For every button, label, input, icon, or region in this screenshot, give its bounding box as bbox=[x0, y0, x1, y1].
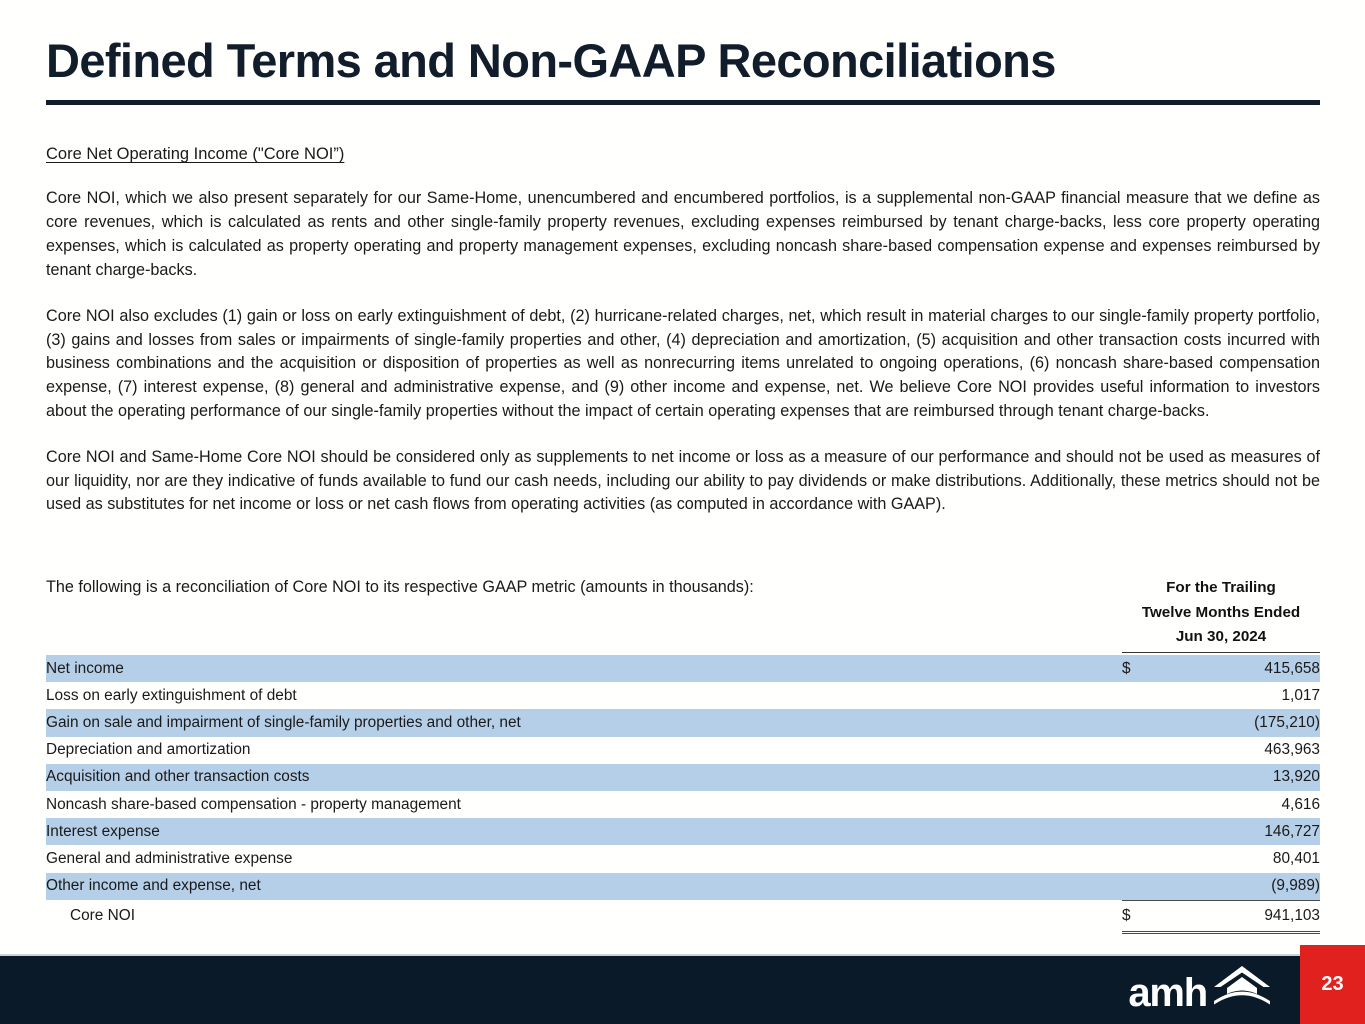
table-row: Acquisition and other transaction costs1… bbox=[46, 764, 1320, 791]
row-currency-symbol bbox=[1122, 764, 1162, 791]
row-value: (175,210) bbox=[1162, 709, 1320, 736]
row-value: 13,920 bbox=[1162, 764, 1320, 791]
slide: Defined Terms and Non-GAAP Reconciliatio… bbox=[0, 0, 1365, 1024]
row-value: 415,658 bbox=[1162, 655, 1320, 682]
table-body: Net income$415,658Loss on early extingui… bbox=[46, 655, 1320, 932]
table-row: Gain on sale and impairment of single-fa… bbox=[46, 709, 1320, 736]
title-divider bbox=[46, 100, 1320, 105]
row-value: 463,963 bbox=[1162, 737, 1320, 764]
row-currency-symbol bbox=[1122, 791, 1162, 818]
paragraph-3: Core NOI and Same-Home Core NOI should b… bbox=[46, 446, 1320, 517]
row-label: Interest expense bbox=[46, 818, 1122, 845]
row-currency-symbol bbox=[1122, 737, 1162, 764]
row-currency-symbol bbox=[1122, 709, 1162, 736]
paragraph-2: Core NOI also excludes (1) gain or loss … bbox=[46, 305, 1320, 424]
row-label: Net income bbox=[46, 655, 1122, 682]
title-block: Defined Terms and Non-GAAP Reconciliatio… bbox=[46, 36, 1320, 85]
row-value: 1,017 bbox=[1162, 682, 1320, 709]
row-label: Core NOI bbox=[46, 900, 1122, 932]
row-label: Loss on early extinguishment of debt bbox=[46, 682, 1122, 709]
table-row: Loss on early extinguishment of debt1,01… bbox=[46, 682, 1320, 709]
row-currency-symbol: $ bbox=[1122, 655, 1162, 682]
section-heading: Core Net Operating Income ("Core NOI”) bbox=[46, 144, 1320, 165]
row-label: Other income and expense, net bbox=[46, 873, 1122, 901]
house-icon bbox=[1211, 963, 1273, 1012]
row-value: (9,989) bbox=[1162, 873, 1320, 901]
table-row: General and administrative expense80,401 bbox=[46, 845, 1320, 872]
row-currency-symbol bbox=[1122, 818, 1162, 845]
amh-logo: amh bbox=[1128, 963, 1273, 1012]
table-row: Noncash share-based compensation - prope… bbox=[46, 791, 1320, 818]
row-currency-symbol bbox=[1122, 845, 1162, 872]
row-label: Acquisition and other transaction costs bbox=[46, 764, 1122, 791]
row-currency-symbol bbox=[1122, 682, 1162, 709]
column-header-line-3: Jun 30, 2024 bbox=[1122, 625, 1320, 650]
table-row: Depreciation and amortization463,963 bbox=[46, 737, 1320, 764]
table-column-header: For the Trailing Twelve Months Ended Jun… bbox=[1122, 576, 1320, 653]
footer-bar: amh 23 bbox=[0, 956, 1365, 1024]
row-value: 941,103 bbox=[1162, 900, 1320, 932]
paragraph-1: Core NOI, which we also present separate… bbox=[46, 187, 1320, 282]
row-value: 80,401 bbox=[1162, 845, 1320, 872]
row-currency-symbol: $ bbox=[1122, 900, 1162, 932]
row-label: Gain on sale and impairment of single-fa… bbox=[46, 709, 1122, 736]
column-header-line-1: For the Trailing bbox=[1122, 576, 1320, 601]
column-header-line-2: Twelve Months Ended bbox=[1122, 601, 1320, 626]
table-row: Net income$415,658 bbox=[46, 655, 1320, 682]
page-number: 23 bbox=[1321, 973, 1343, 996]
row-label: Depreciation and amortization bbox=[46, 737, 1122, 764]
body-content: Core Net Operating Income ("Core NOI”) C… bbox=[46, 144, 1320, 517]
row-currency-symbol bbox=[1122, 873, 1162, 901]
column-header-rule bbox=[1122, 652, 1320, 653]
row-value: 4,616 bbox=[1162, 791, 1320, 818]
core-noi-reconciliation-table: Net income$415,658Loss on early extingui… bbox=[46, 655, 1320, 934]
table-row: Other income and expense, net(9,989) bbox=[46, 873, 1320, 901]
amh-logo-text: amh bbox=[1128, 975, 1207, 1012]
row-value: 146,727 bbox=[1162, 818, 1320, 845]
page-number-block: 23 bbox=[1300, 945, 1365, 1024]
page-title: Defined Terms and Non-GAAP Reconciliatio… bbox=[46, 36, 1320, 85]
row-label: General and administrative expense bbox=[46, 845, 1122, 872]
table-row: Core NOI$941,103 bbox=[46, 900, 1320, 932]
table-row: Interest expense146,727 bbox=[46, 818, 1320, 845]
row-label: Noncash share-based compensation - prope… bbox=[46, 791, 1122, 818]
